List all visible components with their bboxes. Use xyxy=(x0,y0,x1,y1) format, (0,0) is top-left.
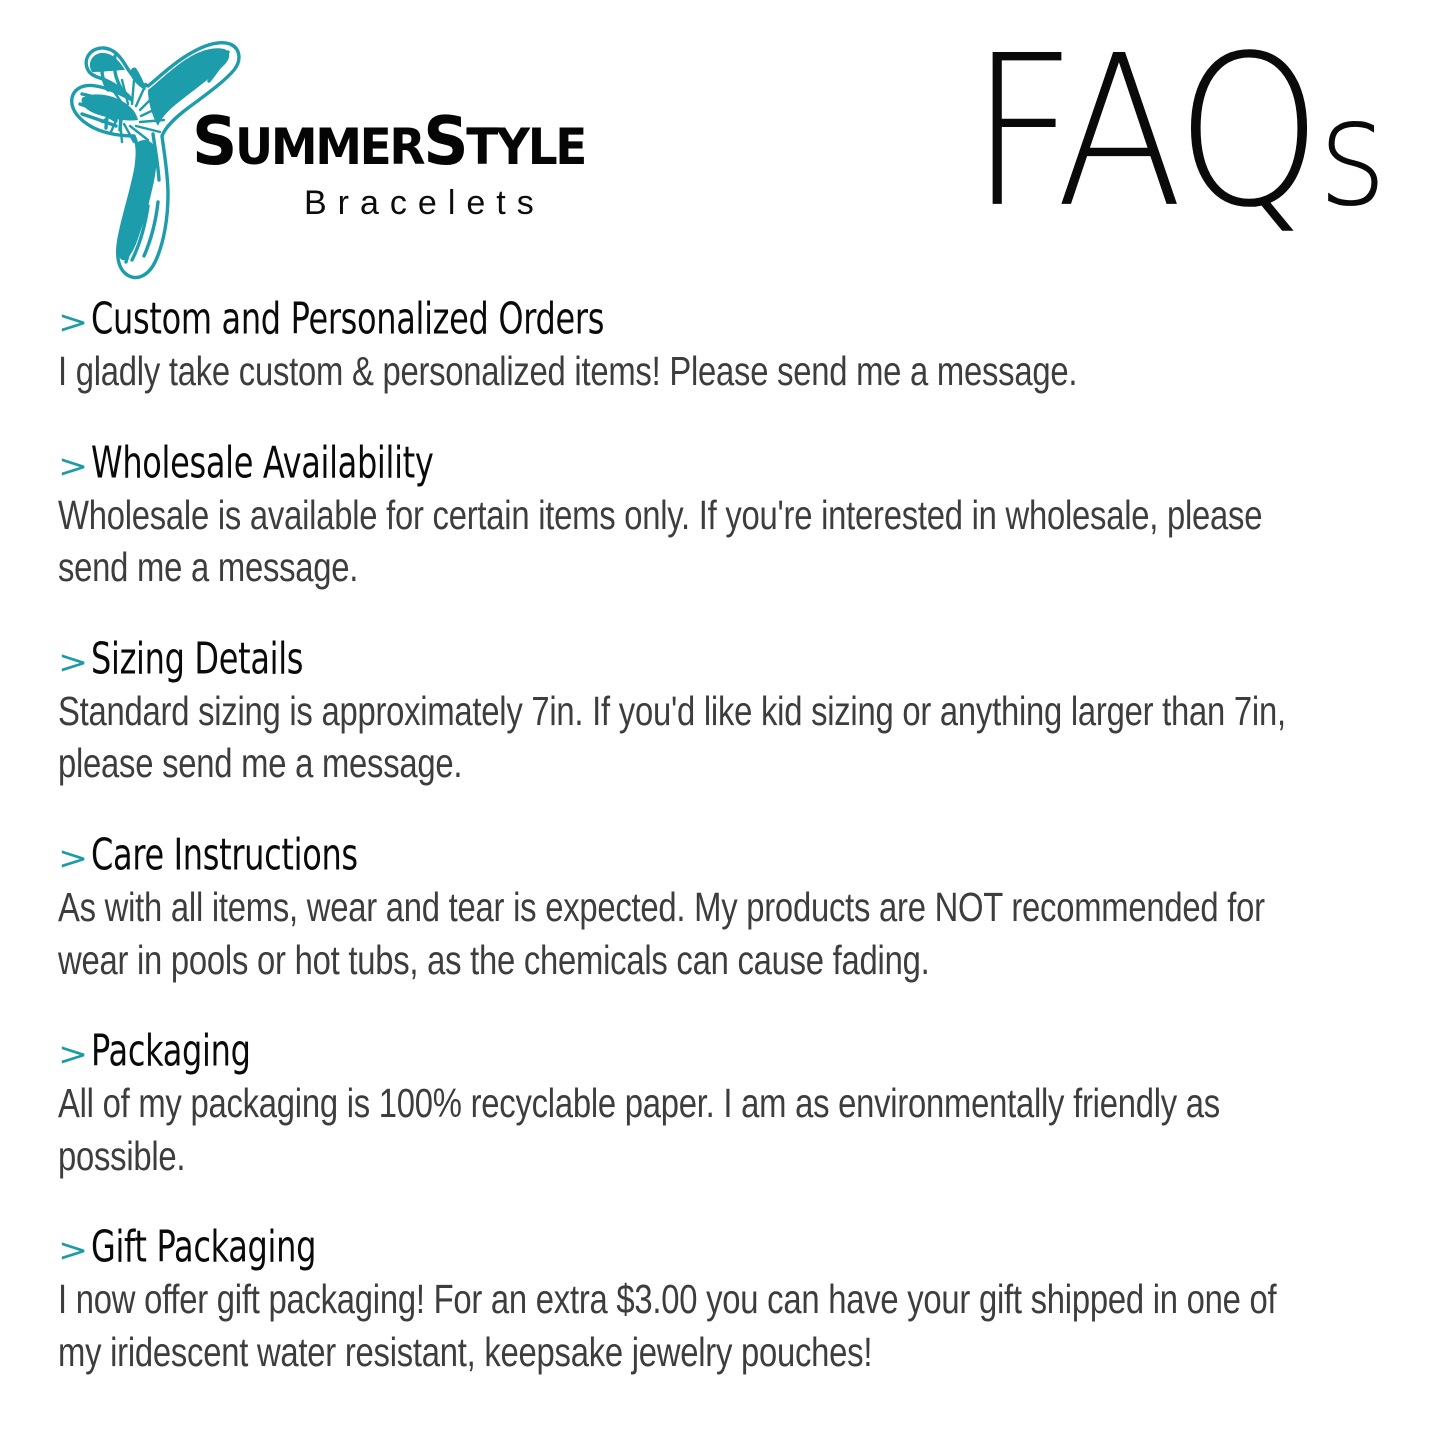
brand-name-s1: S xyxy=(192,102,235,180)
faq-question-label: Gift Packaging xyxy=(91,1225,316,1272)
faq-item-gift-packaging: > Gift Packaging I now offer gift packag… xyxy=(58,1228,1258,1378)
page-header: SUMMERSTYLE Bracelets FAQs xyxy=(0,0,1445,292)
chevron-right-icon: > xyxy=(58,1235,84,1267)
faq-answer-text: All of my packaging is 100% recyclable p… xyxy=(58,1077,1306,1182)
faq-question-label: Packaging xyxy=(91,1029,251,1076)
faq-question-label: Sizing Details xyxy=(91,636,303,683)
faq-question-row[interactable]: > Gift Packaging xyxy=(58,1228,1258,1271)
faq-question-row[interactable]: > Custom and Personalized Orders xyxy=(58,300,1258,343)
page-title: FAQs xyxy=(970,28,1383,236)
faq-question-label: Wholesale Availability xyxy=(91,440,434,487)
faq-question-label: Custom and Personalized Orders xyxy=(91,297,604,344)
brand-subtitle: Bracelets xyxy=(304,184,662,223)
faq-list: > Custom and Personalized Orders I gladl… xyxy=(58,300,1258,1378)
chevron-right-icon: > xyxy=(58,450,84,482)
faq-answer-text: Wholesale is available for certain items… xyxy=(58,489,1306,594)
brand-logo: SUMMERSTYLE Bracelets xyxy=(52,22,672,287)
faq-item-packaging: > Packaging All of my packaging is 100% … xyxy=(58,1032,1258,1182)
faq-item-wholesale: > Wholesale Availability Wholesale is av… xyxy=(58,444,1258,594)
faq-page: SUMMERSTYLE Bracelets FAQs > Custom and … xyxy=(0,0,1445,1445)
chevron-right-icon: > xyxy=(58,1039,84,1071)
faq-question-label: Care Instructions xyxy=(91,832,358,879)
brand-name: SUMMERSTYLE xyxy=(192,110,634,174)
chevron-right-icon: > xyxy=(58,843,84,875)
faq-item-custom-orders: > Custom and Personalized Orders I gladl… xyxy=(58,300,1258,398)
brand-name-s2: S xyxy=(423,102,466,180)
faq-answer-text: Standard sizing is approximately 7in. If… xyxy=(58,685,1306,790)
faq-question-row[interactable]: > Sizing Details xyxy=(58,640,1258,683)
faq-answer-text: I now offer gift packaging! For an extra… xyxy=(58,1273,1306,1378)
chevron-right-icon: > xyxy=(58,647,84,679)
faq-question-row[interactable]: > Care Instructions xyxy=(58,836,1258,879)
faq-question-row[interactable]: > Packaging xyxy=(58,1032,1258,1075)
brand-name-tyle: TYLE xyxy=(466,118,585,176)
faq-answer-text: I gladly take custom & personalized item… xyxy=(58,345,1306,397)
faq-item-care: > Care Instructions As with all items, w… xyxy=(58,836,1258,986)
brand-text-group: SUMMERSTYLE Bracelets xyxy=(192,110,662,223)
brand-name-ummer: UMMER xyxy=(235,118,423,176)
faq-item-sizing: > Sizing Details Standard sizing is appr… xyxy=(58,640,1258,790)
faq-question-row[interactable]: > Wholesale Availability xyxy=(58,444,1258,487)
page-title-faq: FAQ xyxy=(970,10,1318,253)
page-title-s: s xyxy=(1318,67,1383,239)
chevron-right-icon: > xyxy=(58,307,84,339)
faq-answer-text: As with all items, wear and tear is expe… xyxy=(58,881,1306,986)
